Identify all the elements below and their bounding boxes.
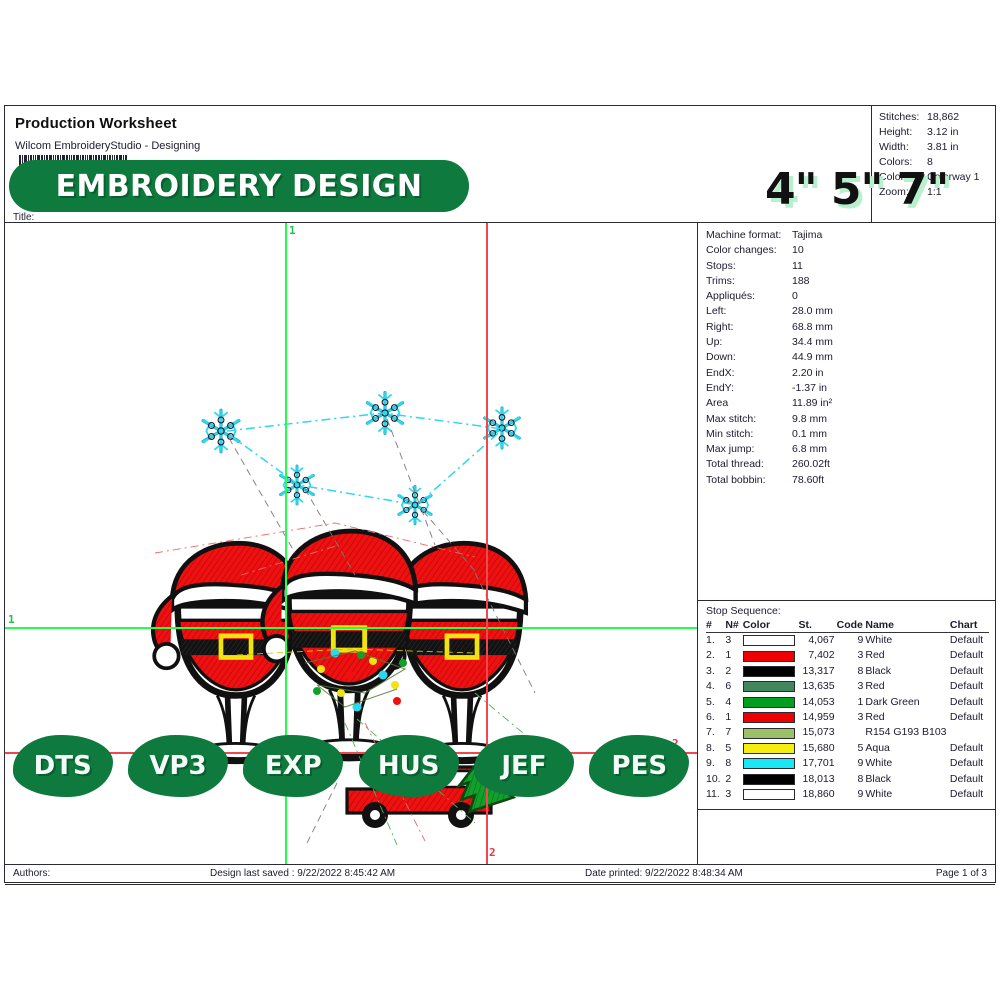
title-field-label: Title: [13,212,34,223]
row-chart: Default [950,633,989,649]
info-label: Color changes: [706,243,792,258]
logo-label: EMBROIDERY DESIGN [9,169,469,204]
row-chart: Default [950,648,989,663]
format-badge-dts[interactable]: DTS [13,735,113,797]
info-value: 68.8 mm [792,320,995,335]
col-number: N# [725,618,742,633]
guide-green-horizontal [5,627,697,629]
table-row[interactable]: 9.817,7019WhiteDefault [706,756,989,771]
row-name: Aqua [865,741,950,756]
info-label: EndY: [706,381,792,396]
row-index: 9. [706,756,725,771]
table-row[interactable]: 2.17,4023RedDefault [706,648,989,663]
info-label: Min stitch: [706,427,792,442]
info-row: Stops:11 [706,259,995,274]
row-code: 1 [837,695,866,710]
table-row[interactable]: 11.318,8609WhiteDefault [706,787,989,802]
row-stitches: 18,013 [798,772,836,787]
info-row: EndX:2.20 in [706,366,995,381]
info-label: Left: [706,304,792,319]
info-value: -1.37 in [792,381,995,396]
color-swatch [743,681,795,692]
info-value: 11.89 in² [792,396,995,411]
info-label: Trims: [706,274,792,289]
embroidery-design-logo: EMBROIDERY DESIGN [9,160,469,212]
info-label: EndX: [706,366,792,381]
app-subtitle: Wilcom EmbroideryStudio - Designing [15,140,200,152]
row-chart [950,725,989,740]
stop-sequence-caption: Stop Sequence: [706,604,995,618]
row-number: 3 [725,787,742,802]
info-label: Max jump: [706,442,792,457]
stat-label: Stitches: [879,110,927,125]
row-name: Black [865,772,950,787]
color-swatch-cell[interactable] [743,664,799,679]
row-index: 3. [706,664,725,679]
row-index: 6. [706,710,725,725]
info-value: 11 [792,259,995,274]
info-row: Height:3.12 in [879,125,993,140]
col-code: Code [837,618,866,633]
row-code: 3 [837,710,866,725]
row-chart: Default [950,741,989,756]
color-swatch-cell[interactable] [743,787,799,802]
row-name: Dark Green [865,695,950,710]
info-value: 44.9 mm [792,350,995,365]
info-label: Machine format: [706,228,792,243]
col-stitches: St. [798,618,836,633]
format-badge-exp[interactable]: EXP [243,735,343,797]
color-swatch-cell[interactable] [743,633,799,649]
info-row: Down:44.9 mm [706,350,995,365]
footer-authors: Authors: [13,868,50,879]
info-row: Color changes:10 [706,243,995,258]
color-swatch-cell[interactable] [743,679,799,694]
row-code: 5 [837,741,866,756]
info-row: Right:68.8 mm [706,320,995,335]
color-swatch [743,743,795,754]
col-chart: Chart [950,618,989,633]
info-row: Trims:188 [706,274,995,289]
row-name: R154 G193 B103 [865,725,950,740]
row-stitches: 15,073 [798,725,836,740]
table-row[interactable]: 6.114,9593RedDefault [706,710,989,725]
info-row: Up:34.4 mm [706,335,995,350]
info-label: Appliqués: [706,289,792,304]
info-value: 260.02ft [792,457,995,472]
row-chart: Default [950,772,989,787]
info-row: Total bobbin:78.60ft [706,473,995,488]
table-row[interactable]: 7.715,073R154 G193 B103 [706,725,989,740]
info-value: 28.0 mm [792,304,995,319]
info-label: Stops: [706,259,792,274]
size-overlay: 4" 5" 7" [765,164,948,215]
row-code: 3 [837,648,866,663]
format-badge-label: HUS [378,751,440,781]
row-number: 3 [725,633,742,649]
stat-label: Width: [879,140,927,155]
info-row: Max jump:6.8 mm [706,442,995,457]
row-name: Black [865,664,950,679]
format-badge-hus[interactable]: HUS [359,735,459,797]
color-swatch [743,712,795,723]
info-label: Area [706,396,792,411]
info-label: Down: [706,350,792,365]
info-value: 34.4 mm [792,335,995,350]
color-swatch-cell[interactable] [743,725,799,740]
row-number: 6 [725,679,742,694]
row-index: 2. [706,648,725,663]
col-color: Color [743,618,799,633]
table-row[interactable]: 3.213,3178BlackDefault [706,664,989,679]
color-swatch [743,666,795,677]
table-row[interactable]: 5.414,0531Dark GreenDefault [706,695,989,710]
info-row: Width:3.81 in [879,140,993,155]
info-value: 3.81 in [927,140,993,155]
format-badge-label: DTS [34,751,92,781]
info-value: 0.1 mm [792,427,995,442]
color-swatch-cell[interactable] [743,695,799,710]
format-badge-label: PES [612,751,668,781]
row-stitches: 7,402 [798,648,836,663]
footer-page-number: Page 1 of 3 [936,868,987,879]
info-label: Right: [706,320,792,335]
color-swatch-cell[interactable] [743,756,799,771]
design-canvas[interactable]: 1 1 2 2 DTSVP3EXPHUSJEFPES [5,223,698,864]
info-value: 9.8 mm [792,412,995,427]
row-number: 2 [725,772,742,787]
row-chart: Default [950,679,989,694]
row-index: 11. [706,787,725,802]
row-index: 7. [706,725,725,740]
format-badge-label: EXP [265,751,322,781]
info-row: Max stitch:9.8 mm [706,412,995,427]
table-row[interactable]: 10.218,0138BlackDefault [706,772,989,787]
row-chart: Default [950,787,989,802]
row-name: White [865,787,950,802]
stop-sequence-panel: Stop Sequence: # N# Color St. Code Name … [698,600,995,810]
info-row: Total thread:260.02ft [706,457,995,472]
format-badge-pes[interactable]: PES [589,735,689,797]
color-swatch-cell[interactable] [743,710,799,725]
info-row: EndY:-1.37 in [706,381,995,396]
row-chart: Default [950,695,989,710]
color-swatch-cell[interactable] [743,741,799,756]
info-value: Tajima [792,228,995,243]
row-code: 8 [837,772,866,787]
info-row: Stitches:18,862 [879,110,993,125]
row-name: White [865,633,950,649]
row-number: 7 [725,725,742,740]
row-index: 4. [706,679,725,694]
row-number: 4 [725,695,742,710]
row-code: 3 [837,679,866,694]
row-code: 8 [837,664,866,679]
row-stitches: 18,860 [798,787,836,802]
info-label: Up: [706,335,792,350]
table-row[interactable]: 8.515,6805AquaDefault [706,741,989,756]
table-row[interactable]: 1.34,0679WhiteDefault [706,633,989,649]
row-code [837,725,866,740]
color-swatch [743,651,795,662]
info-value: 78.60ft [792,473,995,488]
col-index: # [706,618,725,633]
table-row[interactable]: 4.613,6353RedDefault [706,679,989,694]
row-name: White [865,756,950,771]
stat-label: Height: [879,125,927,140]
stop-sequence-table: # N# Color St. Code Name Chart 1.34,0679… [706,618,989,802]
row-chart: Default [950,710,989,725]
color-swatch [743,697,795,708]
row-stitches: 13,635 [798,679,836,694]
row-stitches: 4,067 [798,633,836,649]
row-stitches: 14,959 [798,710,836,725]
format-badge-vp3[interactable]: VP3 [128,735,228,797]
info-value: 3.12 in [927,125,993,140]
footer-date-printed: Date printed: 9/22/2022 8:48:34 AM [585,868,743,879]
row-index: 1. [706,633,725,649]
row-stitches: 13,317 [798,664,836,679]
row-chart: Default [950,756,989,771]
right-panel: Machine format:TajimaColor changes:10Sto… [698,223,995,864]
page-footer: Authors: Design last saved : 9/22/2022 8… [5,864,995,885]
row-code: 9 [837,633,866,649]
worksheet-page: Production Worksheet Wilcom EmbroiderySt… [4,105,996,883]
color-swatch [743,789,795,800]
row-number: 8 [725,756,742,771]
row-stitches: 14,053 [798,695,836,710]
row-name: Red [865,710,950,725]
row-number: 5 [725,741,742,756]
table-header-row: # N# Color St. Code Name Chart [706,618,989,633]
row-name: Red [865,679,950,694]
info-label: Max stitch: [706,412,792,427]
col-name: Name [865,618,950,633]
row-stitches: 17,701 [798,756,836,771]
format-badge-label: JEF [501,751,546,781]
row-number: 2 [725,664,742,679]
color-swatch-cell[interactable] [743,648,799,663]
design-info-panel: Machine format:TajimaColor changes:10Sto… [698,223,995,488]
guide-label-green-vertical: 1 [289,224,296,237]
format-badge-jef[interactable]: JEF [474,735,574,797]
color-swatch [743,774,795,785]
color-swatch [743,635,795,646]
info-value: 10 [792,243,995,258]
color-swatch-cell[interactable] [743,772,799,787]
info-value: 0 [792,289,995,304]
info-row: Machine format:Tajima [706,228,995,243]
info-label: Total bobbin: [706,473,792,488]
row-index: 10. [706,772,725,787]
guide-label-red-vertical: 2 [489,846,496,859]
info-row: Appliqués:0 [706,289,995,304]
format-badges: DTSVP3EXPHUSJEFPES [5,726,697,806]
color-swatch [743,758,795,769]
guide-label-green-horizontal: 1 [8,613,15,626]
row-chart: Default [950,664,989,679]
info-label: Total thread: [706,457,792,472]
row-stitches: 15,680 [798,741,836,756]
color-swatch [743,728,795,739]
row-number: 1 [725,648,742,663]
format-badge-label: VP3 [149,751,206,781]
row-code: 9 [837,787,866,802]
info-value: 6.8 mm [792,442,995,457]
info-row: Area11.89 in² [706,396,995,411]
row-code: 9 [837,756,866,771]
footer-last-saved: Design last saved : 9/22/2022 8:45:42 AM [210,868,395,879]
page-title: Production Worksheet [15,115,177,132]
info-value: 2.20 in [792,366,995,381]
info-row: Left:28.0 mm [706,304,995,319]
row-index: 8. [706,741,725,756]
row-index: 5. [706,695,725,710]
row-number: 1 [725,710,742,725]
info-value: 18,862 [927,110,993,125]
row-name: Red [865,648,950,663]
info-value: 188 [792,274,995,289]
info-row: Min stitch:0.1 mm [706,427,995,442]
